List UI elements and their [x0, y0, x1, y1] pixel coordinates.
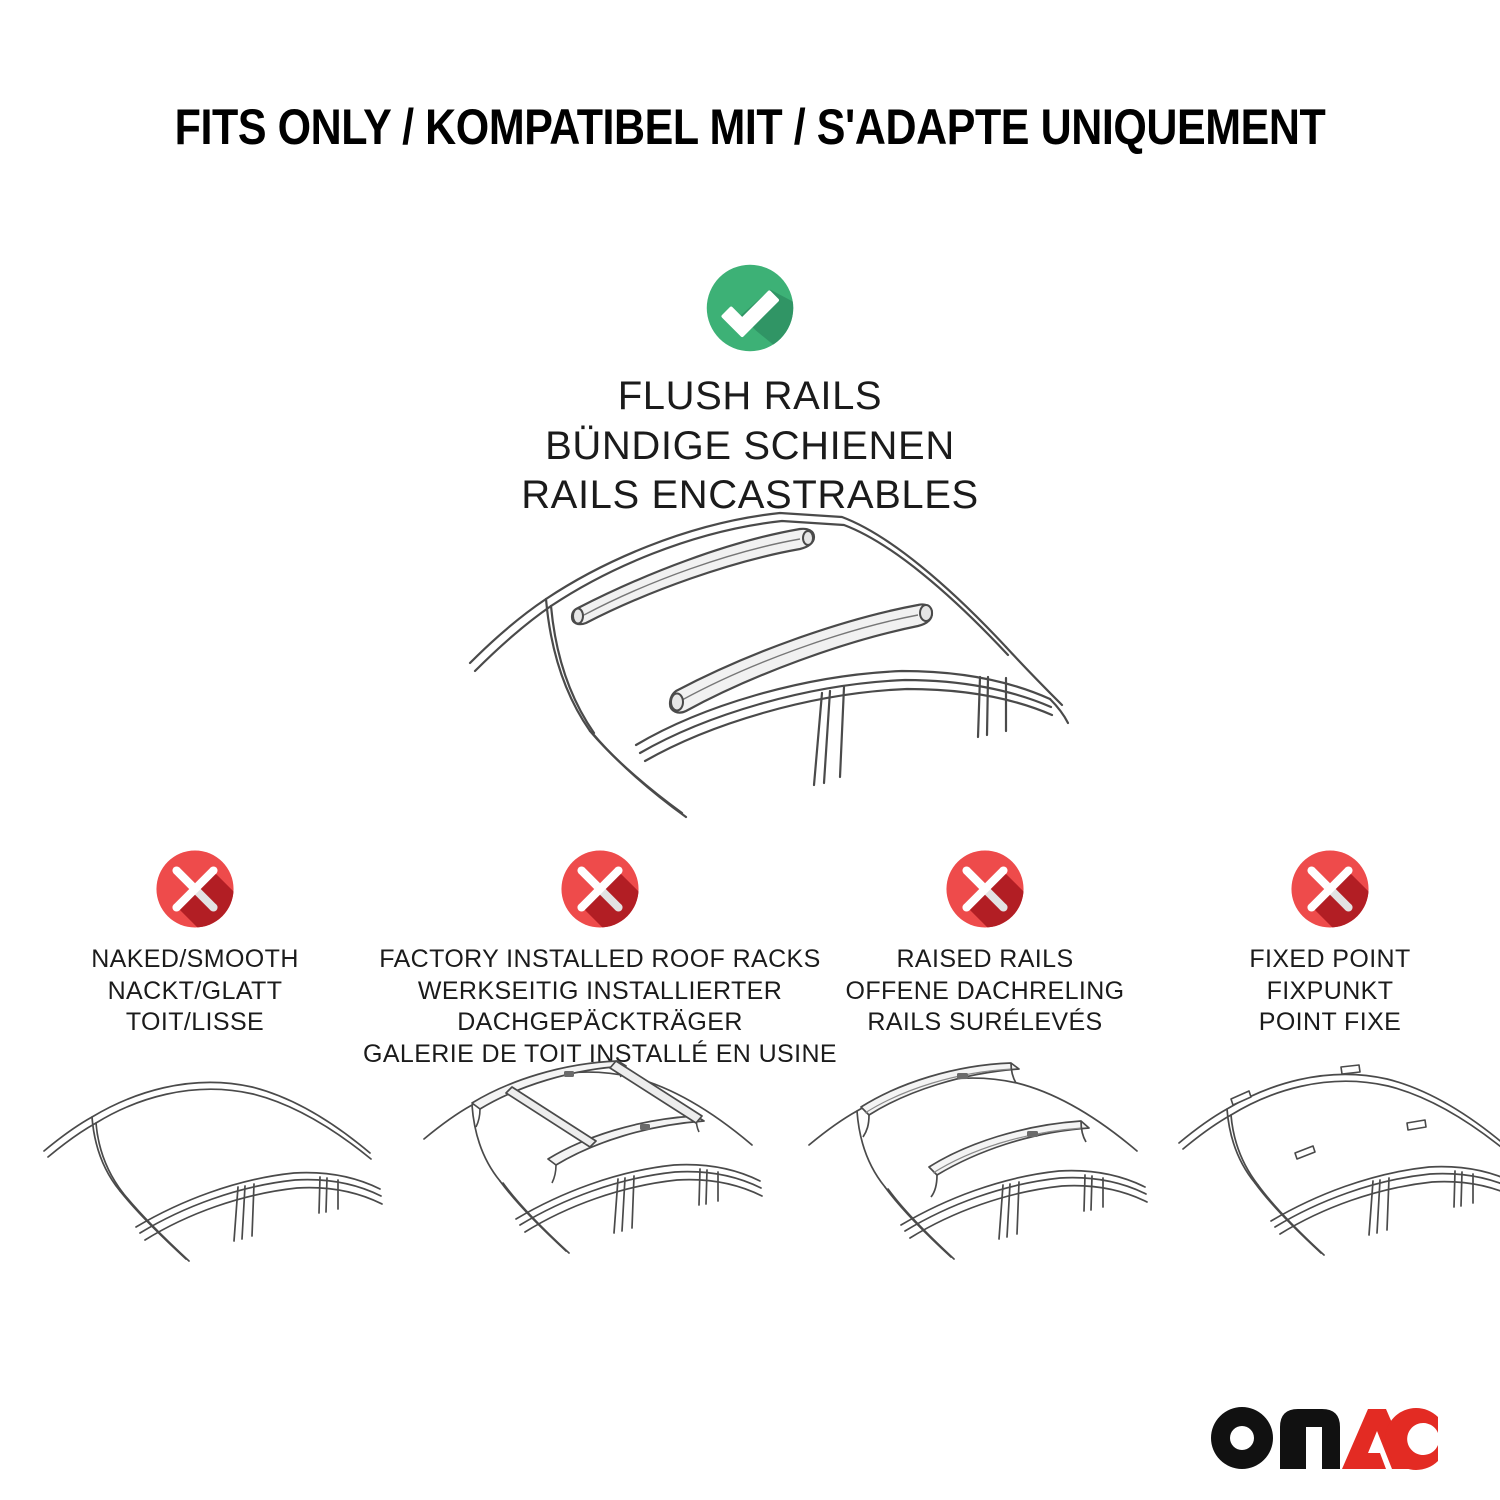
exclusion-label-group: NAKED/SMOOTH NACKT/GLATT TOIT/LISSE	[91, 944, 299, 1039]
car-roof-naked-smooth-illustration	[40, 1055, 385, 1285]
exclusion-item-fixed-point: FIXED POINT FIXPUNKT POINT FIXE	[1160, 848, 1500, 1070]
fits-label-de: BÜNDIGE SCHIENEN	[0, 422, 1500, 472]
exclusion-label-en: RAISED RAILS	[845, 944, 1124, 976]
exclusion-label-de: FIXPUNKT	[1249, 976, 1410, 1008]
car-roof-flush-rails-illustration	[450, 495, 1070, 825]
car-roof-raised-rails-illustration	[805, 1055, 1150, 1285]
omac-logo	[1210, 1405, 1440, 1475]
fits-label-en: FLUSH RAILS	[0, 372, 1500, 422]
red-x-circle-icon	[154, 848, 236, 930]
exclusion-label-en: FACTORY INSTALLED ROOF RACKS	[363, 944, 837, 976]
exclusion-label-fr: RAILS SURÉLEVÉS	[845, 1007, 1124, 1039]
car-roof-fixed-point-illustration	[1175, 1055, 1500, 1285]
does-not-fit-section: NAKED/SMOOTH NACKT/GLATT TOIT/LISSE	[0, 848, 1500, 1070]
exclusion-label-de-1: WERKSEITIG INSTALLIERTER	[363, 976, 837, 1008]
car-roof-factory-roof-racks-illustration	[420, 1055, 765, 1285]
exclusion-illustration-row	[0, 1055, 1500, 1295]
exclusion-item-factory-roof-racks: FACTORY INSTALLED ROOF RACKS WERKSEITIG …	[390, 848, 810, 1070]
exclusion-label-fr: POINT FIXE	[1249, 1007, 1410, 1039]
exclusion-label-de-2: DACHGEPÄCKTRÄGER	[363, 1007, 837, 1039]
exclusion-label-group: FIXED POINT FIXPUNKT POINT FIXE	[1249, 944, 1410, 1039]
green-check-circle-icon	[704, 262, 796, 354]
exclusion-label-fr: TOIT/LISSE	[91, 1007, 299, 1039]
fits-section: FLUSH RAILS BÜNDIGE SCHIENEN RAILS ENCAS…	[0, 262, 1500, 521]
exclusion-item-raised-rails: RAISED RAILS OFFENE DACHRELING RAILS SUR…	[810, 848, 1160, 1070]
exclusion-label-group: FACTORY INSTALLED ROOF RACKS WERKSEITIG …	[363, 944, 837, 1070]
exclusion-item-naked-smooth: NAKED/SMOOTH NACKT/GLATT TOIT/LISSE	[0, 848, 390, 1070]
exclusion-label-de: OFFENE DACHRELING	[845, 976, 1124, 1008]
exclusion-label-group: RAISED RAILS OFFENE DACHRELING RAILS SUR…	[845, 944, 1124, 1039]
exclusion-label-en: FIXED POINT	[1249, 944, 1410, 976]
red-x-circle-icon	[559, 848, 641, 930]
red-x-circle-icon	[1289, 848, 1371, 930]
exclusion-label-en: NAKED/SMOOTH	[91, 944, 299, 976]
page-title: FITS ONLY / KOMPATIBEL MIT / S'ADAPTE UN…	[105, 100, 1395, 155]
red-x-circle-icon	[944, 848, 1026, 930]
exclusion-label-de: NACKT/GLATT	[91, 976, 299, 1008]
